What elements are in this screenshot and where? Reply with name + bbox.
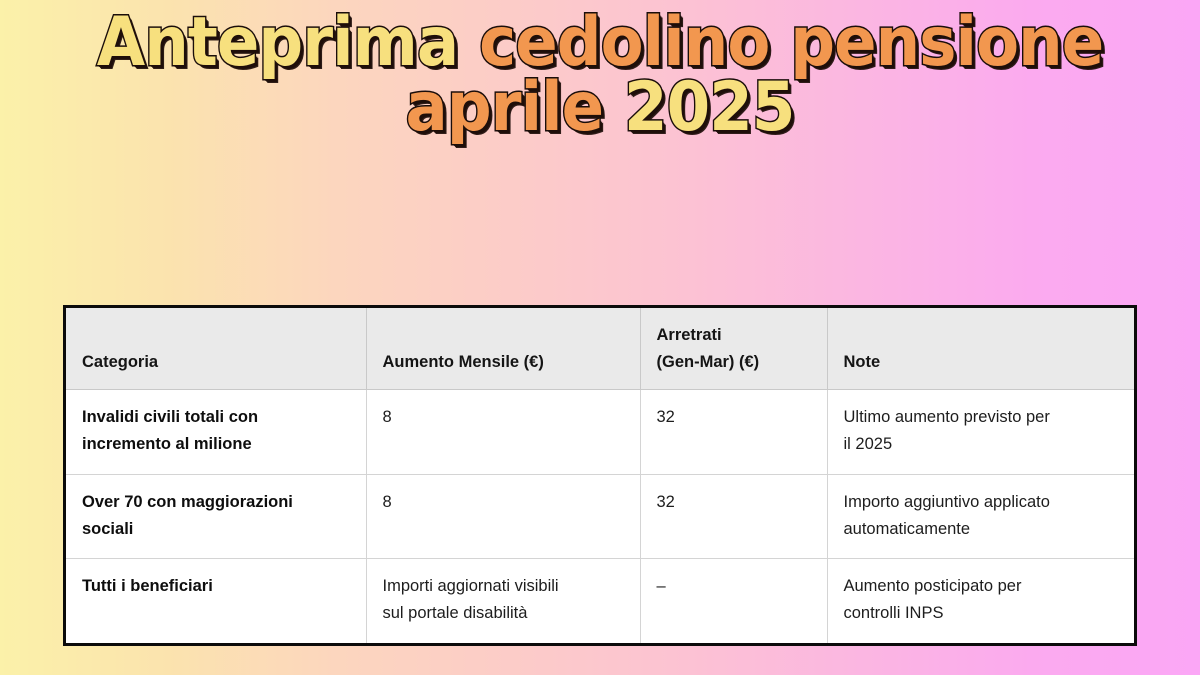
column-header-arretrati-line-1: Arretrati [657, 322, 811, 349]
cell-arretrati-line-1: 32 [657, 489, 811, 516]
column-header-aumento-mensile: Aumento Mensile (€) [366, 308, 640, 390]
column-header-arretrati-line-2: (Gen-Mar) (€) [657, 349, 811, 376]
table-header: Categoria Aumento Mensile (€) Arretrati … [66, 308, 1134, 390]
cell-categoria-line-1: Invalidi civili totali con [82, 404, 350, 431]
cell-note-line-1: Ultimo aumento previsto per [844, 404, 1119, 431]
cell-categoria-line-2: sociali [82, 516, 350, 543]
cell-categoria-line-1: Over 70 con maggiorazioni [82, 489, 350, 516]
table-body: Invalidi civili totali con incremento al… [66, 390, 1134, 643]
column-header-arretrati: Arretrati (Gen-Mar) (€) [640, 308, 827, 390]
cell-arretrati: – [640, 559, 827, 643]
cell-aumento-mensile-line-1: 8 [383, 404, 624, 431]
table-row: Over 70 con maggiorazioni sociali 8 32 I… [66, 474, 1134, 558]
table-header-row: Categoria Aumento Mensile (€) Arretrati … [66, 308, 1134, 390]
cell-categoria: Tutti i beneficiari [66, 559, 366, 643]
column-header-aumento-mensile-line-1: Aumento Mensile (€) [383, 349, 624, 376]
title-line-2: aprile 2025 [48, 75, 1152, 140]
cell-categoria: Invalidi civili totali con incremento al… [66, 390, 366, 474]
cell-note: Importo aggiuntivo applicato automaticam… [827, 474, 1134, 558]
cell-note-line-1: Importo aggiuntivo applicato [844, 489, 1119, 516]
table-row: Invalidi civili totali con incremento al… [66, 390, 1134, 474]
cell-arretrati: 32 [640, 474, 827, 558]
page-title: Anteprima cedolino pensione aprile 2025 [0, 10, 1200, 141]
cell-note-line-2: controlli INPS [844, 600, 1119, 627]
cell-note: Aumento posticipato per controlli INPS [827, 559, 1134, 643]
cell-note-line-1: Aumento posticipato per [844, 573, 1119, 600]
cell-note-line-2: automaticamente [844, 516, 1119, 543]
cell-categoria: Over 70 con maggiorazioni sociali [66, 474, 366, 558]
cell-categoria-line-2: incremento al milione [82, 431, 350, 458]
column-header-categoria-line-1: Categoria [82, 349, 350, 376]
cell-arretrati-line-1: – [657, 573, 811, 600]
cell-note-line-2: il 2025 [844, 431, 1119, 458]
cell-arretrati-line-1: 32 [657, 404, 811, 431]
title-segment-2025: 2025 [624, 68, 794, 147]
title-line-1: Anteprima cedolino pensione [48, 10, 1152, 75]
table: Categoria Aumento Mensile (€) Arretrati … [66, 308, 1134, 643]
title-segment-aprile: aprile [406, 68, 625, 147]
cell-aumento-mensile-line-2: sul portale disabilità [383, 600, 624, 627]
cell-aumento-mensile: 8 [366, 474, 640, 558]
cell-arretrati: 32 [640, 390, 827, 474]
pension-increase-table: Categoria Aumento Mensile (€) Arretrati … [63, 305, 1137, 646]
column-header-note: Note [827, 308, 1134, 390]
cell-aumento-mensile: Importi aggiornati visibili sul portale … [366, 559, 640, 643]
column-header-note-line-1: Note [844, 349, 1119, 376]
poster-canvas: Anteprima cedolino pensione aprile 2025 … [0, 0, 1200, 675]
cell-aumento-mensile: 8 [366, 390, 640, 474]
table-row: Tutti i beneficiari Importi aggiornati v… [66, 559, 1134, 643]
cell-categoria-line-1: Tutti i beneficiari [82, 573, 350, 600]
cell-aumento-mensile-line-1: Importi aggiornati visibili [383, 573, 624, 600]
column-header-categoria: Categoria [66, 308, 366, 390]
cell-aumento-mensile-line-1: 8 [383, 489, 624, 516]
cell-note: Ultimo aumento previsto per il 2025 [827, 390, 1134, 474]
